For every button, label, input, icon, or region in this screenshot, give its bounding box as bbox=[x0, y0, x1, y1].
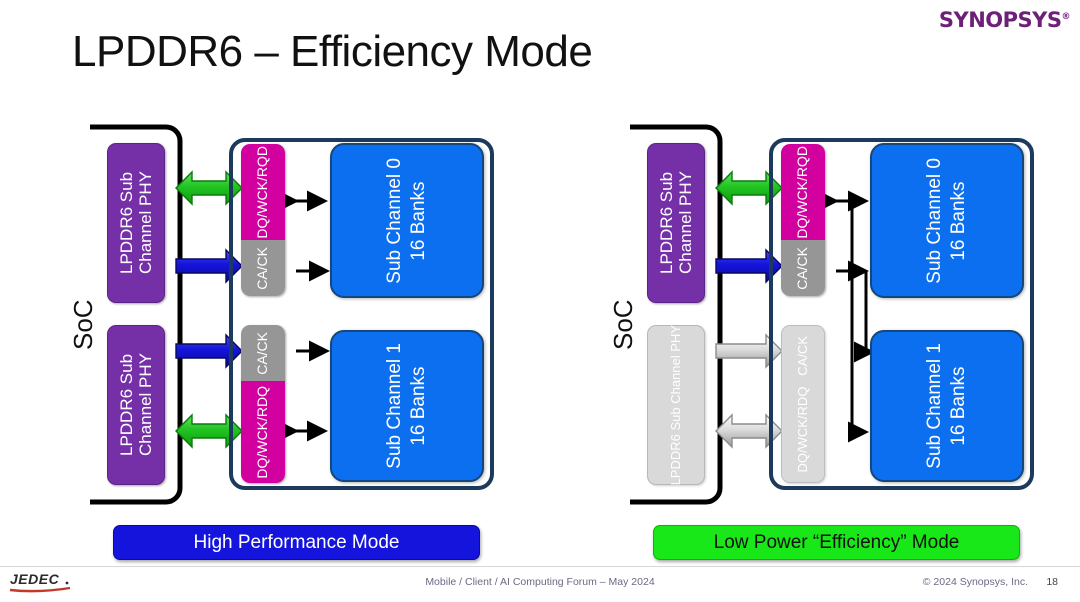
soc-label-left: SoC bbox=[68, 280, 96, 370]
io-stack-right-1-disabled[interactable]: DQ/WCK/RDQ CA/CK bbox=[781, 325, 825, 483]
io-seg-ca[interactable]: CA/CK bbox=[241, 240, 285, 296]
bank-label: Sub Channel 1 16 Banks bbox=[923, 343, 971, 469]
phy-label: LPDDR6 Sub Channel PHY bbox=[657, 171, 695, 274]
io-seg-label: CA/CK bbox=[795, 247, 811, 290]
bank-block-left-0[interactable]: Sub Channel 0 16 Banks bbox=[330, 143, 484, 298]
mode-pill-high-performance[interactable]: High Performance Mode bbox=[113, 525, 480, 560]
io-seg-label: DQ/WCK/RDQ bbox=[255, 386, 271, 479]
bank-label: Sub Channel 0 16 Banks bbox=[383, 158, 431, 284]
phy-block-left-1[interactable]: LPDDR6 Sub Channel PHY bbox=[107, 325, 165, 485]
io-seg-label: CA/CK bbox=[255, 332, 271, 375]
phy-label: LPDDR6 Sub Channel PHY bbox=[669, 325, 684, 485]
footer-page-number: 18 bbox=[1046, 576, 1058, 588]
phy-block-left-0[interactable]: LPDDR6 Sub Channel PHY bbox=[107, 143, 165, 303]
io-seg-dq[interactable]: DQ/WCK/RQD bbox=[241, 144, 285, 240]
io-stack-left-0[interactable]: DQ/WCK/RQD CA/CK bbox=[241, 144, 285, 296]
io-seg-label: CA/CK bbox=[255, 247, 271, 290]
footer-center-text: Mobile / Client / AI Computing Forum – M… bbox=[0, 576, 1080, 588]
bank-label: Sub Channel 1 16 Banks bbox=[383, 343, 431, 469]
mode-pill-label: High Performance Mode bbox=[194, 532, 400, 554]
io-seg-label: DQ/WCK/RQD bbox=[255, 146, 271, 239]
bank-block-right-0[interactable]: Sub Channel 0 16 Banks bbox=[870, 143, 1024, 298]
bank-block-left-1[interactable]: Sub Channel 1 16 Banks bbox=[330, 330, 484, 482]
mode-pill-label: Low Power “Efficiency” Mode bbox=[714, 532, 960, 554]
footer-copyright: © 2024 Synopsys, Inc. bbox=[923, 576, 1028, 588]
soc-label-right: SoC bbox=[608, 280, 636, 370]
io-stack-right-0[interactable]: DQ/WCK/RQD CA/CK bbox=[781, 144, 825, 296]
io-seg-label: DQ/WCK/RDQ CA/CK bbox=[796, 336, 811, 473]
io-seg-dq[interactable]: DQ/WCK/RQD bbox=[781, 144, 825, 240]
footer-divider bbox=[0, 566, 1080, 567]
phy-label: LPDDR6 Sub Channel PHY bbox=[117, 353, 155, 456]
io-seg-dq[interactable]: DQ/WCK/RDQ bbox=[241, 381, 285, 483]
phy-block-right-1-disabled[interactable]: LPDDR6 Sub Channel PHY bbox=[647, 325, 705, 485]
io-seg-ca[interactable]: CA/CK bbox=[241, 325, 285, 381]
mode-pill-low-power[interactable]: Low Power “Efficiency” Mode bbox=[653, 525, 1020, 560]
io-seg-ca[interactable]: CA/CK bbox=[781, 240, 825, 296]
io-seg-disabled[interactable]: DQ/WCK/RDQ CA/CK bbox=[782, 326, 824, 482]
io-stack-left-1[interactable]: CA/CK DQ/WCK/RDQ bbox=[241, 325, 285, 483]
io-seg-label: DQ/WCK/RQD bbox=[795, 146, 811, 239]
phy-label: LPDDR6 Sub Channel PHY bbox=[117, 171, 155, 274]
bank-block-right-1[interactable]: Sub Channel 1 16 Banks bbox=[870, 330, 1024, 482]
phy-block-right-0[interactable]: LPDDR6 Sub Channel PHY bbox=[647, 143, 705, 303]
bank-label: Sub Channel 0 16 Banks bbox=[923, 158, 971, 284]
